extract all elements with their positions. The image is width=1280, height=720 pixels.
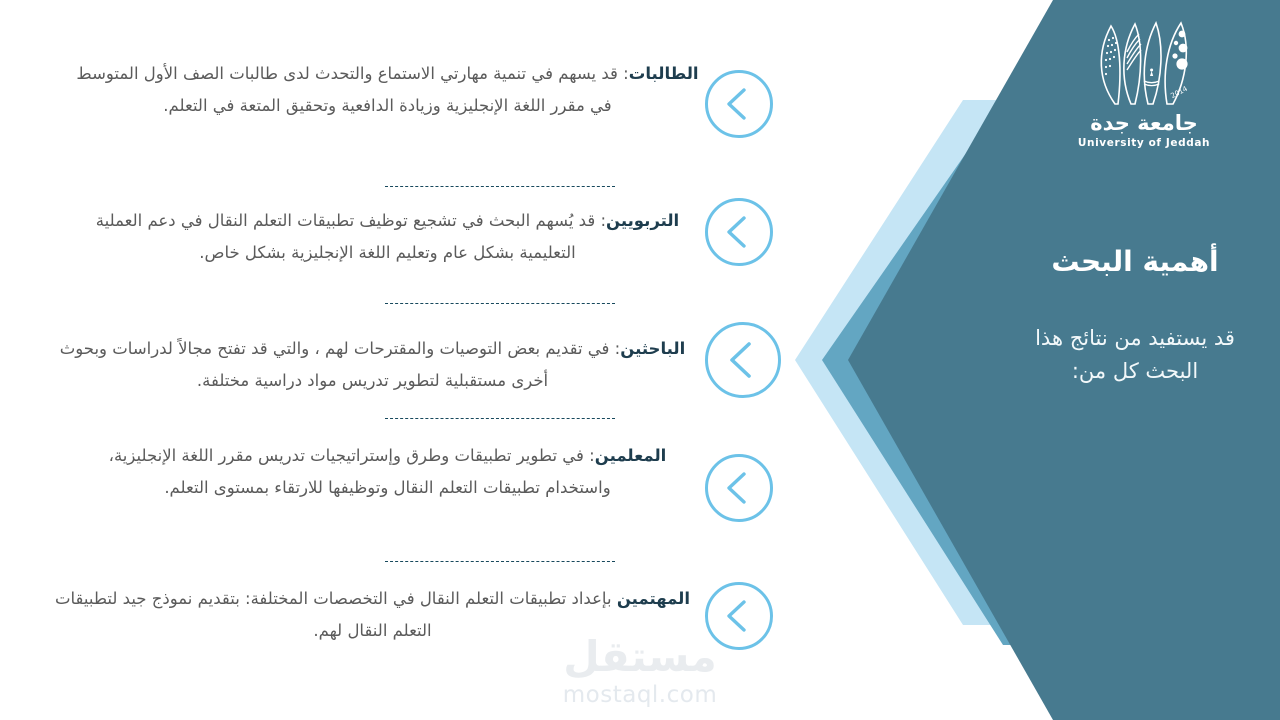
page-subtitle: قد يستفيد من نتائج هذا البحث كل من: [1020, 322, 1250, 387]
bullet-body-2: : قد يُسهم البحث في تشجيع توظيف تطبيقات … [96, 211, 606, 262]
chevron-left-circle-icon-2[interactable] [705, 198, 773, 266]
bullet-lead-2: التربويين [606, 211, 679, 230]
bullet-item-2: التربويين: قد يُسهم البحث في تشجيع توظيف… [20, 205, 700, 269]
university-logo: 2014 جامعة جدة University of Jeddah [1044, 18, 1244, 149]
bullet-lead-4: المعلمين [595, 446, 667, 465]
bullet-lead-5: المهتمين [617, 589, 690, 608]
bullet-item-4: المعلمين: في تطوير تطبيقات وطرق وإستراتي… [20, 440, 700, 504]
bullet-text-column: الطالبات: قد يسهم في تنمية مهارتي الاستم… [0, 0, 700, 720]
chevron-left-circle-icon-1[interactable] [705, 70, 773, 138]
divider-1 [385, 186, 615, 187]
bullet-item-3: الباحثين: في تقديم بعض التوصيات والمقترح… [20, 333, 700, 397]
page-title: أهمية البحث [1030, 245, 1240, 279]
logo-year: 2014 [1169, 84, 1189, 100]
divider-4 [385, 561, 615, 562]
bullet-lead-1: الطالبات [629, 64, 699, 83]
logo-name-arabic: جامعة جدة [1044, 112, 1244, 135]
chevron-left-circle-icon-3[interactable] [705, 322, 781, 398]
divider-2 [385, 303, 615, 304]
bullet-body-3: : في تقديم بعض التوصيات والمقترحات لهم ،… [60, 339, 620, 390]
bullet-item-5: المهتمين بإعداد تطبيقات التعلم النقال في… [20, 583, 700, 647]
bullet-body-5: بإعداد تطبيقات التعلم النقال في التخصصات… [55, 589, 617, 640]
chevron-left-circle-icon-5[interactable] [705, 582, 773, 650]
divider-3 [385, 418, 615, 419]
university-of-jeddah-logo-icon: 2014 [1084, 18, 1204, 110]
right-panel: 2014 جامعة جدة University of Jeddah أهمي… [1000, 0, 1280, 720]
bullet-body-4: : في تطوير تطبيقات وطرق وإستراتيجيات تدر… [109, 446, 611, 497]
bullet-lead-3: الباحثين [620, 339, 685, 358]
bullet-item-1: الطالبات: قد يسهم في تنمية مهارتي الاستم… [20, 58, 700, 122]
chevron-left-circle-icon-4[interactable] [705, 454, 773, 522]
bullet-marker-column [705, 0, 810, 720]
presentation-slide: 2014 جامعة جدة University of Jeddah أهمي… [0, 0, 1280, 720]
bullet-body-1: : قد يسهم في تنمية مهارتي الاستماع والتح… [76, 64, 628, 115]
logo-name-english: University of Jeddah [1044, 137, 1244, 149]
